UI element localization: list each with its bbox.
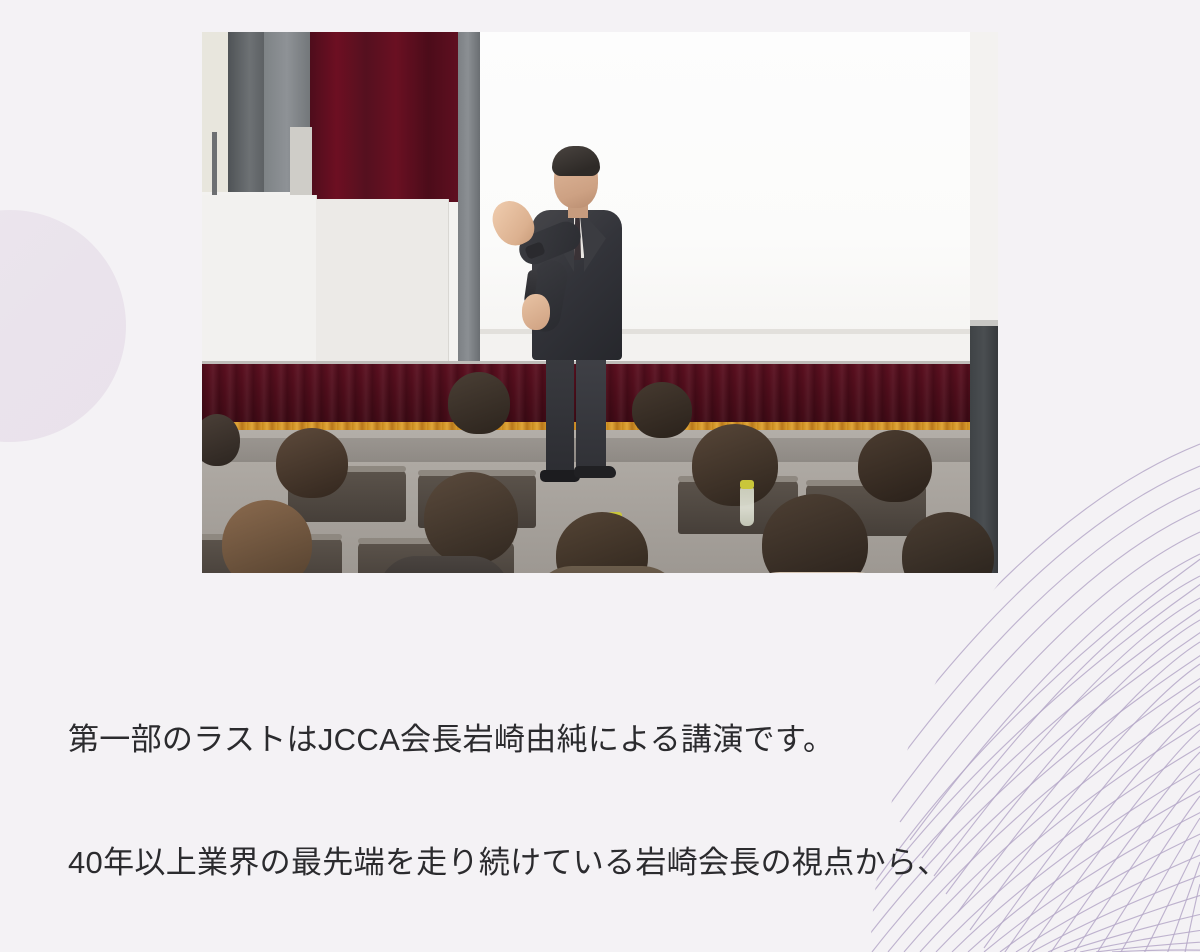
wall-rail [212,132,217,198]
right-column-cap [970,320,998,326]
page-root: 第一部のラストはJCCA会長岩崎由純による講演です。 40年以上業界の最先端を走… [0,0,1200,952]
speaker-leg-right [576,348,606,474]
audience-head [424,472,518,564]
pillar-center [458,32,480,368]
caption-line-1: 第一部のラストはJCCA会長岩崎由純による講演です。 [68,719,1128,760]
audience-head [632,382,692,438]
pillar-dark [228,32,264,192]
audience-head [276,428,348,498]
water-bottle [740,486,754,526]
lecture-photo [202,32,998,573]
wall-block [290,127,312,197]
audience-head [858,430,932,502]
photo-scene [202,32,998,573]
speaker-leg-left [546,348,574,476]
water-bottle-cap [740,480,754,489]
caption-block: 第一部のラストはJCCA会長岩崎由純による講演です。 40年以上業界の最先端を走… [68,637,1128,952]
audience-head [692,424,778,506]
white-panel-left [202,195,317,367]
caption-line-2: 40年以上業界の最先端を走り続けている岩崎会長の視点から、 [68,842,1128,883]
curtain-upper [310,32,458,202]
speaker-hand-lower [522,294,550,330]
speaker-shoe-right [574,466,616,478]
white-panel-right [316,199,449,367]
speaker-hair [552,146,600,176]
audience-head [448,372,510,434]
decorative-circle [0,210,126,442]
